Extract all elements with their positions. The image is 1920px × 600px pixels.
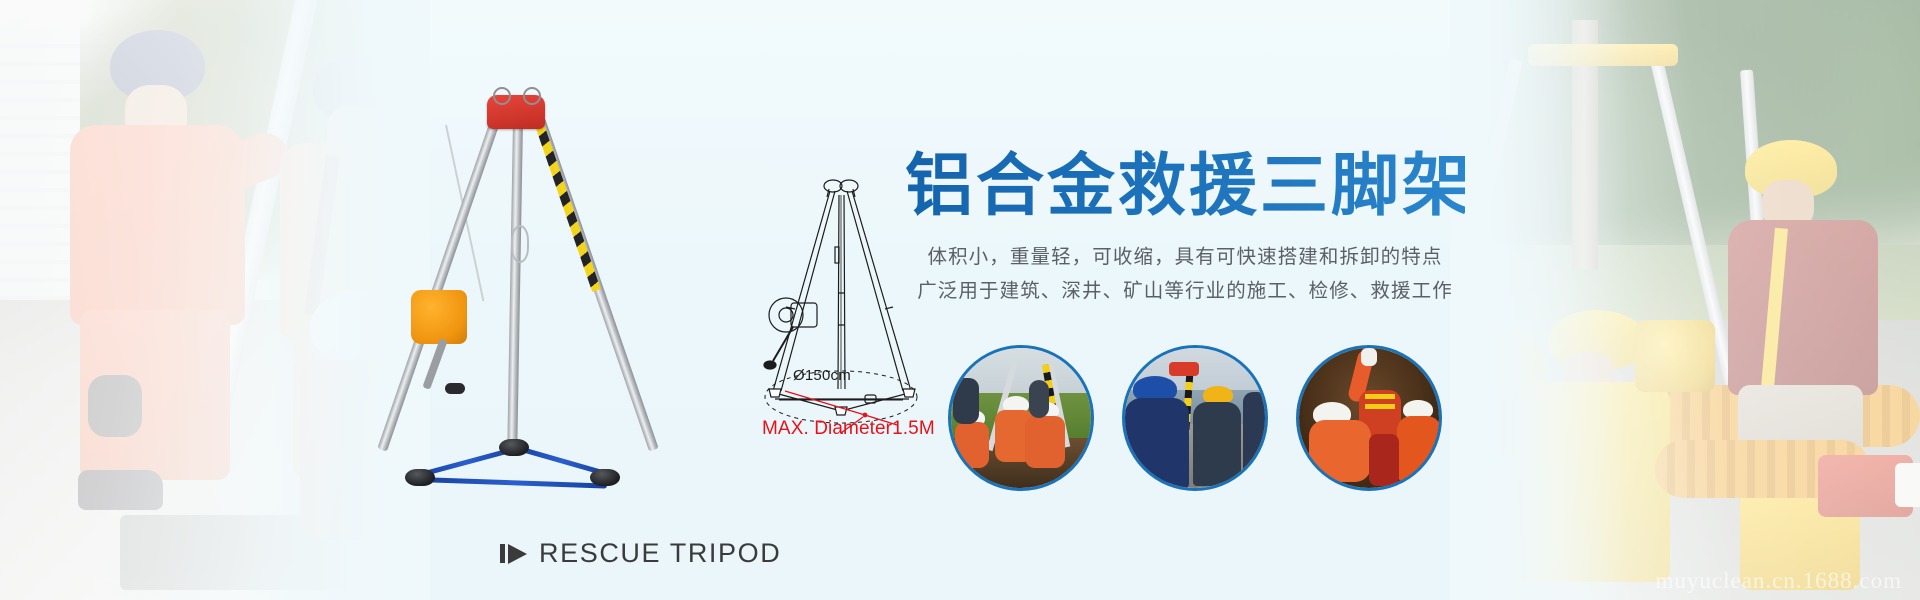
subtitle-line-1: 体积小，重量轻，可收缩，具有可快速搭建和拆卸的特点 [905,240,1465,274]
product-tripod-image [395,95,625,485]
winch-crank-arm [422,338,447,390]
worker-figure [955,422,989,468]
gallery-item-tunnel-rescue[interactable] [1296,345,1442,491]
worker-figure [1309,420,1371,482]
gallery-item-well-rescue[interactable] [948,345,1094,491]
anchor-ring-icon [523,87,541,105]
text-block: 铝合金救援三脚架 体积小，重量轻，可收缩，具有可快速搭建和拆卸的特点 广泛用于建… [905,150,1465,308]
bystander-figure [953,378,979,424]
rescue-bag [1369,434,1399,486]
tripod-base [395,425,625,485]
winch-head [1169,362,1199,376]
hazard-stripe-tape [535,124,600,292]
marker-bar [500,544,505,563]
watermark-text: muyuclean.cn.1688.com [1656,568,1902,594]
subtitle-line-2: 广泛用于建筑、深井、矿山等行业的施工、检修、救援工作 [905,274,1465,308]
page-title: 铝合金救援三脚架 [905,150,1465,222]
subtitle-block: 体积小，重量轻，可收缩，具有可快速搭建和拆卸的特点 广泛用于建筑、深井、矿山等行… [905,240,1465,308]
drawing-head-knuckle [840,180,858,192]
left-background-photo [0,0,430,600]
site-inspection-photo [1125,348,1265,488]
base-strap [419,477,607,489]
worker-figure [1193,402,1241,486]
right-background-photo [1450,0,1920,600]
photo-edge-fade [1450,0,1628,600]
marker-triangle [508,544,527,564]
worker-figure [1397,416,1441,486]
brand-line: RESCUE TRIPOD [500,538,781,569]
rubber-foot [590,469,620,486]
tripod-head-cap [487,95,545,129]
glove-shape [1361,348,1377,366]
rubber-foot [499,439,529,456]
anchor-ring-icon [493,87,511,105]
product-banner: Ø150cm MAX. Diameter1.5M RESCUE TRIPOD 铝… [0,0,1920,600]
play-marker-icon [500,544,527,564]
reflective-stripe [1365,394,1395,399]
tripod-leg-center [507,121,523,451]
tripod-leg-left [377,117,500,451]
tunnel-rescue-photo [1299,348,1439,488]
worker-figure [1025,416,1065,468]
bystander-figure [1029,380,1049,418]
worker-figure [1243,392,1267,480]
photo-gallery [948,345,1442,491]
rubber-foot [405,469,435,486]
carabiner-hook-icon [511,225,529,263]
well-rescue-photo [951,348,1091,488]
reflective-stripe [1365,404,1395,409]
diameter-dimension-label: Ø150cm [793,367,851,384]
worker-figure [1125,398,1189,488]
brand-label: RESCUE TRIPOD [539,538,781,569]
max-diameter-label: MAX. Diameter1.5M [762,418,935,440]
drawing-head-knuckle [824,180,842,192]
winch-housing [411,290,467,344]
winch-crank-handle [445,383,465,394]
gallery-item-site-inspection[interactable] [1122,345,1268,491]
